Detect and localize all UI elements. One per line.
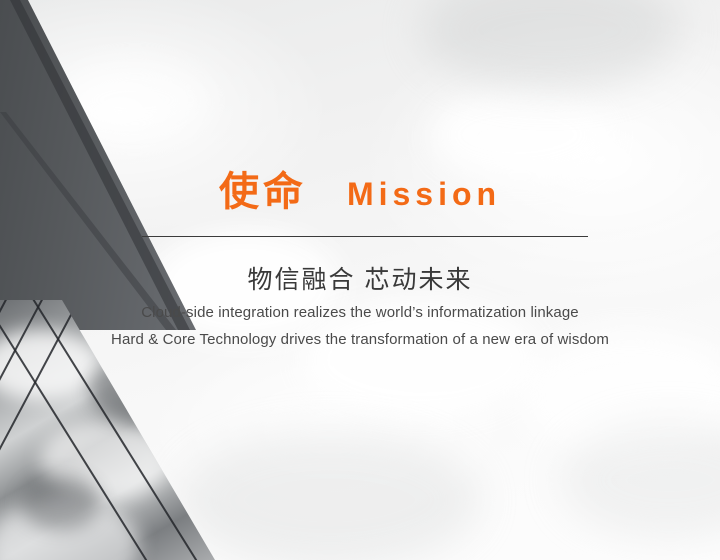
banner-title: 使命 Mission bbox=[0, 172, 720, 212]
banner-title-chinese: 使命 bbox=[219, 172, 307, 212]
banner-title-english: Mission bbox=[347, 178, 501, 210]
banner-subtitle-chinese: 物信融合 芯动未来 bbox=[0, 260, 720, 296]
banner-description-line-1: Cloud-side integration realizes the worl… bbox=[0, 304, 720, 321]
mission-banner: 使命 Mission 物信融合 芯动未来 Cloud-side integrat… bbox=[0, 0, 720, 560]
title-divider bbox=[142, 236, 588, 237]
banner-content: 使命 Mission 物信融合 芯动未来 Cloud-side integrat… bbox=[0, 0, 720, 560]
banner-description-line-2: Hard & Core Technology drives the transf… bbox=[0, 331, 720, 348]
